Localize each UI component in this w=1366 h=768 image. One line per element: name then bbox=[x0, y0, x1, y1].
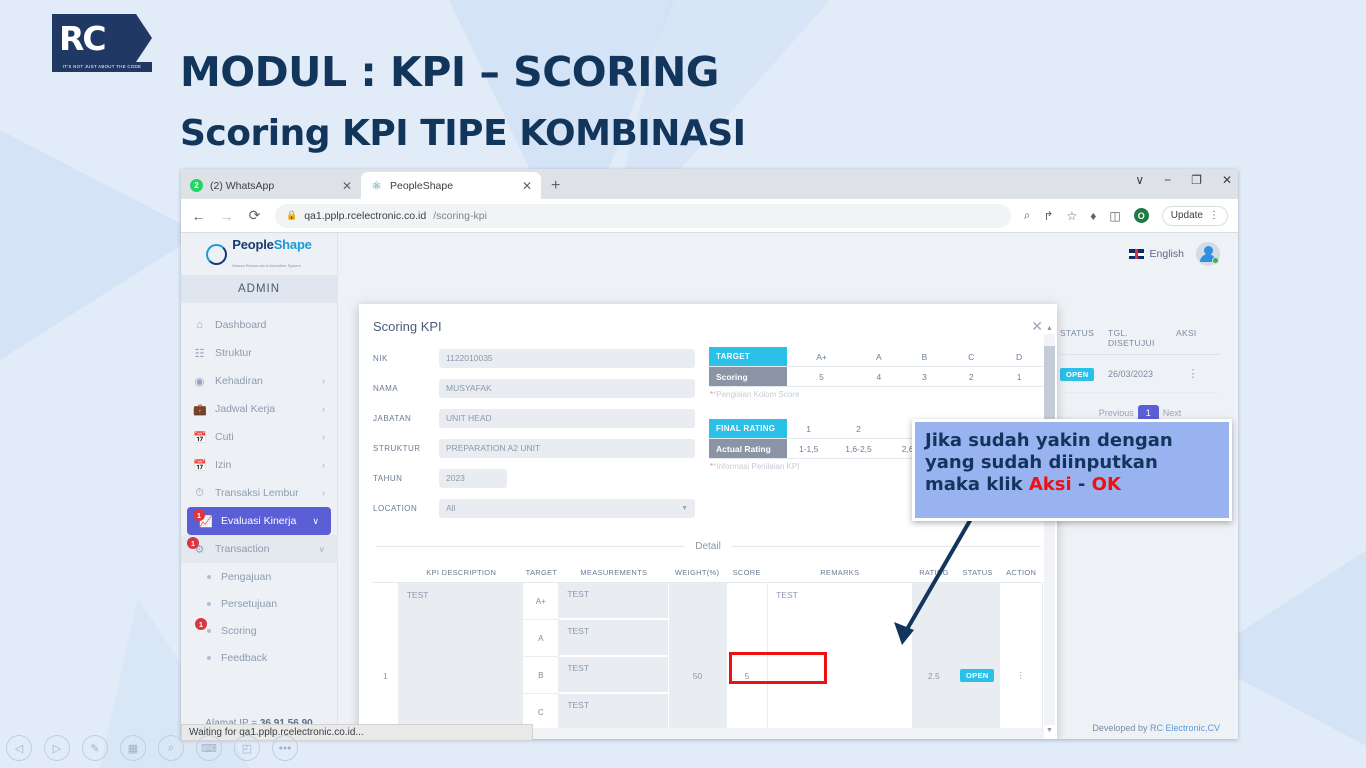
all-slides-icon[interactable]: ▦ bbox=[120, 735, 146, 761]
next-slide-icon[interactable]: ▷ bbox=[44, 735, 70, 761]
field-label: NIK bbox=[373, 354, 439, 363]
column-header-tgl-disetujui: TGL. DISETUJUI bbox=[1108, 328, 1170, 348]
close-icon[interactable]: ✕ bbox=[1031, 318, 1043, 335]
fingerprint-icon: ◉ bbox=[193, 375, 206, 388]
ok-highlight-box bbox=[729, 652, 827, 684]
target-col: A bbox=[856, 347, 902, 367]
table-header-row: STATUS TGL. DISETUJUI AKSI bbox=[1060, 328, 1220, 355]
bookmark-star-icon[interactable]: ☆ bbox=[1067, 209, 1078, 223]
callout-highlight-ok: OK bbox=[1092, 474, 1121, 495]
column-header-status: STATUS bbox=[1060, 328, 1102, 348]
update-label: Update bbox=[1171, 210, 1203, 221]
footer-link[interactable]: RC Electronic,CV bbox=[1150, 723, 1220, 733]
chevron-right-icon: › bbox=[322, 432, 325, 442]
target-value: A bbox=[523, 620, 559, 657]
browser-tabstrip: 2 (2) WhatsApp ✕ ⚛ PeopleShape ✕ + ∨ − ❐… bbox=[181, 169, 1238, 199]
scoring-value: 3 bbox=[902, 367, 948, 387]
weight-cell[interactable]: 50 bbox=[669, 583, 726, 739]
rc-logo-text: RC bbox=[59, 22, 105, 55]
form-row-struktur: STRUKTUR PREPARATION A2 UNIT bbox=[373, 433, 695, 463]
sidebar-item-struktur[interactable]: ☷ Struktur bbox=[181, 339, 337, 367]
sidebar-item-label: Feedback bbox=[221, 652, 267, 664]
scoring-value: 2 bbox=[947, 367, 995, 387]
address-bar[interactable]: 🔒 qa1.pplp.rcelectronic.co.id/scoring-kp… bbox=[275, 204, 1011, 228]
target-scoring-table: TARGET A+ A B C D Scoring 5 4 3 2 bbox=[709, 347, 1043, 387]
tab-label: (2) WhatsApp bbox=[210, 180, 335, 192]
search-icon[interactable]: ⌕ bbox=[1024, 208, 1031, 223]
rating-col: 2 bbox=[830, 419, 886, 439]
sidebar-item-feedback[interactable]: Feedback bbox=[181, 644, 337, 671]
page-title: MODUL : KPI – SCORING bbox=[180, 48, 719, 96]
form-row-jabatan: JABATAN UNIT HEAD bbox=[373, 403, 695, 433]
callout-highlight-aksi: Aksi bbox=[1029, 474, 1072, 495]
tahun-input[interactable]: 2023 bbox=[439, 469, 507, 488]
modal-title: Scoring KPI bbox=[373, 319, 442, 334]
maximize-icon[interactable]: ❐ bbox=[1191, 173, 1202, 187]
target-measurement-row: A+ TEST bbox=[523, 583, 669, 620]
sidebar-item-label: Pengajuan bbox=[221, 571, 271, 583]
url-host: qa1.pplp.rcelectronic.co.id bbox=[304, 210, 426, 222]
app-sidebar: PeopleShape Human Resources Information … bbox=[181, 233, 338, 739]
row-action-kebab-icon[interactable]: ⋮ bbox=[1176, 367, 1210, 380]
target-measurement-group: A+ TEST A TEST B TEST C bbox=[523, 583, 669, 739]
column-header-aksi: AKSI bbox=[1176, 328, 1210, 348]
instruction-callout: Jika sudah yakin dengan yang sudah diinp… bbox=[912, 419, 1232, 521]
calendar-icon: 📅 bbox=[193, 459, 206, 472]
target-value: B bbox=[523, 657, 559, 694]
jabatan-input[interactable]: UNIT HEAD bbox=[439, 409, 695, 428]
brand-subtitle: Human Resources Information System bbox=[232, 264, 301, 268]
sidebar-item-label: Jadwal Kerja bbox=[215, 403, 313, 415]
sidebar-item-label: Struktur bbox=[215, 347, 316, 359]
target-col: D bbox=[995, 347, 1043, 367]
callout-line-3: maka klik Aksi - OK bbox=[925, 474, 1219, 496]
sidebar-menu: ⌂ Dashboard ☷ Struktur ◉ Kehadiran › 💼 J… bbox=[181, 303, 337, 671]
sidebar-item-evaluasi-kinerja[interactable]: 1 📈 Evaluasi Kinerja ∨ bbox=[187, 507, 331, 535]
home-icon: ⌂ bbox=[193, 319, 206, 331]
table-row: Scoring 5 4 3 2 1 bbox=[709, 367, 1043, 387]
sidebar-item-cuti[interactable]: 📅 Cuti › bbox=[181, 423, 337, 451]
window-controls: ∨ − ❐ ✕ bbox=[1135, 173, 1232, 187]
decorative-polygon bbox=[0, 130, 200, 360]
briefcase-icon: 💼 bbox=[193, 403, 206, 416]
measurement-cell[interactable]: TEST bbox=[559, 620, 669, 657]
sidebar-item-label: Transaction bbox=[215, 543, 309, 555]
form-row-tahun: TAHUN 2023 bbox=[373, 463, 695, 493]
target-table-note: **Pengisian Kolom Score bbox=[710, 390, 1043, 399]
field-label: TAHUN bbox=[373, 474, 439, 483]
whatsapp-icon: 2 bbox=[190, 179, 203, 192]
sidebar-item-kehadiran[interactable]: ◉ Kehadiran › bbox=[181, 367, 337, 395]
table-row: OPEN 26/03/2023 ⋮ bbox=[1060, 355, 1220, 393]
sidebar-item-label: Cuti bbox=[215, 431, 313, 443]
language-selector[interactable]: English bbox=[1129, 248, 1184, 260]
forward-icon[interactable]: → bbox=[219, 208, 234, 224]
profile-avatar[interactable]: O bbox=[1134, 208, 1149, 223]
camera-off-icon[interactable]: ◰ bbox=[234, 735, 260, 761]
column-header-target: TARGET bbox=[524, 568, 560, 577]
scoring-value: 5 bbox=[787, 367, 856, 387]
location-select[interactable]: All ▼ bbox=[439, 499, 695, 518]
measurement-cell[interactable]: TEST bbox=[559, 694, 669, 731]
chevron-down-icon: ▼ bbox=[681, 505, 688, 512]
target-col: B bbox=[902, 347, 948, 367]
sidebar-item-label: Izin bbox=[215, 459, 313, 471]
language-label: English bbox=[1150, 248, 1184, 260]
scroll-down-icon[interactable]: ▼ bbox=[1044, 727, 1055, 734]
logo-ring-icon bbox=[206, 244, 227, 265]
bullet-icon bbox=[207, 575, 211, 579]
sidebar-item-jadwal-kerja[interactable]: 💼 Jadwal Kerja › bbox=[181, 395, 337, 423]
nama-input[interactable]: MUSYAFAK bbox=[439, 379, 695, 398]
zoom-icon[interactable]: ⌕ bbox=[158, 735, 184, 761]
sidebar-item-label: Scoring bbox=[221, 625, 257, 637]
approval-date: 26/03/2023 bbox=[1108, 369, 1170, 379]
reload-icon[interactable]: ⟳ bbox=[247, 207, 262, 224]
location-selected-value: All bbox=[446, 503, 455, 513]
column-header-action: ACTION bbox=[999, 568, 1043, 577]
field-label: STRUKTUR bbox=[373, 444, 439, 453]
scoring-row-label: Scoring bbox=[709, 367, 787, 387]
chevron-right-icon: › bbox=[322, 404, 325, 414]
table-header-row: TARGET A+ A B C D bbox=[709, 347, 1043, 367]
sidebar-item-izin[interactable]: 📅 Izin › bbox=[181, 451, 337, 479]
browser-toolbar: ← → ⟳ 🔒 qa1.pplp.rcelectronic.co.id/scor… bbox=[181, 199, 1238, 233]
row-number: 1 bbox=[373, 583, 399, 739]
field-label: JABATAN bbox=[373, 414, 439, 423]
measurement-cell[interactable]: TEST bbox=[559, 583, 669, 620]
sidebar-item-transaksi-lembur[interactable]: ⏱ Transaksi Lembur › bbox=[181, 479, 337, 507]
scoring-value: 1 bbox=[995, 367, 1043, 387]
update-button[interactable]: Update ⋮ bbox=[1162, 206, 1228, 226]
sidebar-item-label: Dashboard bbox=[215, 319, 316, 331]
pen-icon[interactable]: ✎ bbox=[82, 735, 108, 761]
sidebar-item-scoring[interactable]: 1 Scoring bbox=[181, 617, 337, 644]
app-footer: Developed by RC Electronic,CV bbox=[1092, 723, 1220, 733]
rc-logo: RC IT'S NOT JUST ABOUT THE CODE bbox=[52, 14, 158, 76]
subtitles-icon[interactable]: ⌨ bbox=[196, 735, 222, 761]
modal-header: Scoring KPI ✕ bbox=[359, 304, 1057, 339]
sidebar-item-persetujuan[interactable]: Persetujuan bbox=[181, 590, 337, 617]
status-badge: OPEN bbox=[960, 669, 994, 682]
rc-logo-mark: RC bbox=[52, 14, 152, 62]
user-avatar[interactable] bbox=[1196, 242, 1220, 266]
modal-vertical-scrollbar[interactable]: ▲ ▼ bbox=[1044, 334, 1055, 725]
bullet-icon bbox=[207, 602, 211, 606]
chevron-down-icon: ∨ bbox=[318, 544, 325, 555]
form-row-nama: NAMA MUSYAFAK bbox=[373, 373, 695, 403]
final-rating-header: FINAL RATING bbox=[709, 419, 787, 439]
notification-badge: 1 bbox=[193, 509, 205, 521]
chevron-right-icon: › bbox=[322, 376, 325, 386]
rating-col: 1 bbox=[787, 419, 830, 439]
close-window-icon[interactable]: ✕ bbox=[1222, 173, 1232, 187]
column-header-kpi-description: KPI DESCRIPTION bbox=[399, 568, 524, 577]
side-panel-icon[interactable]: ◫ bbox=[1109, 209, 1120, 223]
extensions-puzzle-icon[interactable]: ♦ bbox=[1090, 209, 1096, 223]
tab-whatsapp[interactable]: 2 (2) WhatsApp ✕ bbox=[181, 172, 361, 199]
target-measurement-row: A TEST bbox=[523, 620, 669, 657]
lock-icon: 🔒 bbox=[286, 210, 297, 221]
form-row-nik: NIK 1122010035 bbox=[373, 343, 695, 373]
chevron-down-icon: ∨ bbox=[312, 516, 319, 527]
more-options-icon[interactable]: ●●● bbox=[272, 735, 298, 761]
chevron-down-icon[interactable]: ∨ bbox=[1135, 173, 1144, 187]
target-header: TARGET bbox=[709, 347, 787, 367]
previous-slide-icon[interactable]: ◁ bbox=[6, 735, 32, 761]
calendar-icon: 📅 bbox=[193, 431, 206, 444]
minimize-icon[interactable]: − bbox=[1164, 173, 1171, 187]
action-kebab-icon[interactable]: ⋮ bbox=[1000, 583, 1043, 739]
actual-rating-value: 1-1,5 bbox=[787, 439, 830, 459]
pagination-previous[interactable]: Previous bbox=[1099, 408, 1134, 418]
chevron-right-icon: › bbox=[322, 460, 325, 470]
callout-line-2: yang sudah diinputkan bbox=[925, 452, 1219, 474]
actual-rating-value: 1,6-2,5 bbox=[830, 439, 886, 459]
uk-flag-icon bbox=[1129, 249, 1144, 259]
field-label: NAMA bbox=[373, 384, 439, 393]
status-badge: OPEN bbox=[1060, 368, 1094, 381]
target-col: C bbox=[947, 347, 995, 367]
browser-menu-icon[interactable]: ⋮ bbox=[1209, 210, 1219, 221]
detail-label: Detail bbox=[695, 541, 721, 552]
actual-rating-label: Actual Rating bbox=[709, 439, 787, 459]
column-header-score: SCORE bbox=[726, 568, 768, 577]
tab-peopleshape[interactable]: ⚛ PeopleShape ✕ bbox=[361, 172, 541, 199]
sidebar-item-label: Evaluasi Kinerja bbox=[221, 515, 303, 527]
form-row-location: LOCATION All ▼ bbox=[373, 493, 695, 523]
pagination-next[interactable]: Next bbox=[1163, 408, 1182, 418]
url-path: /scoring-kpi bbox=[433, 210, 487, 222]
measurement-cell[interactable]: TEST bbox=[559, 657, 669, 694]
brand-name: PeopleShape bbox=[232, 237, 311, 252]
page-subtitle: Scoring KPI TIPE KOMBINASI bbox=[180, 113, 746, 154]
target-measurement-row: C TEST bbox=[523, 694, 669, 731]
online-status-dot bbox=[1212, 257, 1219, 264]
struktur-input[interactable]: PREPARATION A2 UNIT bbox=[439, 439, 695, 458]
share-icon[interactable]: ↱ bbox=[1043, 209, 1053, 223]
target-col: A+ bbox=[787, 347, 856, 367]
column-header-weight: WEIGHT(%) bbox=[668, 568, 725, 577]
tab-label: PeopleShape bbox=[390, 180, 515, 192]
rc-logo-tagline: IT'S NOT JUST ABOUT THE CODE bbox=[52, 62, 152, 72]
chevron-right-icon: › bbox=[322, 488, 325, 498]
clock-icon: ⏱ bbox=[193, 487, 206, 500]
sidebar-item-label: Persetujuan bbox=[221, 598, 277, 610]
scroll-up-icon[interactable]: ▲ bbox=[1044, 325, 1055, 332]
notification-badge: 1 bbox=[187, 537, 199, 549]
bullet-icon bbox=[207, 656, 211, 660]
peopleshape-icon: ⚛ bbox=[370, 179, 383, 192]
presentation-controls: ◁ ▷ ✎ ▦ ⌕ ⌨ ◰ ●●● bbox=[6, 735, 298, 761]
sidebar-item-label: Transaksi Lembur bbox=[215, 487, 313, 499]
sidebar-item-dashboard[interactable]: ⌂ Dashboard bbox=[181, 311, 337, 339]
kpi-description-cell[interactable]: TEST bbox=[399, 583, 524, 739]
sidebar-item-transaction[interactable]: 1 ⚙ Transaction ∨ bbox=[181, 535, 337, 563]
back-icon[interactable]: ← bbox=[191, 208, 206, 224]
sidebar-item-label: Kehadiran bbox=[215, 375, 313, 387]
org-chart-icon: ☷ bbox=[193, 347, 206, 360]
nik-input[interactable]: 1122010035 bbox=[439, 349, 695, 368]
column-header-measurements: MEASUREMENTS bbox=[559, 568, 668, 577]
new-tab-button[interactable]: + bbox=[551, 177, 560, 195]
target-measurement-row: B TEST bbox=[523, 657, 669, 694]
employee-form: NIK 1122010035 NAMA MUSYAFAK JABATAN UNI… bbox=[373, 343, 695, 523]
notification-badge: 1 bbox=[195, 618, 207, 630]
role-label: ADMIN bbox=[181, 275, 337, 303]
footer-prefix: Developed by bbox=[1092, 723, 1147, 733]
app-topbar: English bbox=[338, 233, 1238, 275]
field-label: LOCATION bbox=[373, 504, 439, 513]
sidebar-item-pengajuan[interactable]: Pengajuan bbox=[181, 563, 337, 590]
column-header-no bbox=[373, 568, 399, 577]
callout-line-1: Jika sudah yakin dengan bbox=[925, 430, 1219, 452]
close-icon[interactable]: ✕ bbox=[522, 179, 532, 193]
target-value: A+ bbox=[523, 583, 559, 620]
close-icon[interactable]: ✕ bbox=[342, 179, 352, 193]
bullet-icon bbox=[207, 629, 211, 633]
peopleshape-logo: PeopleShape Human Resources Information … bbox=[181, 233, 337, 275]
scoring-value: 4 bbox=[856, 367, 902, 387]
